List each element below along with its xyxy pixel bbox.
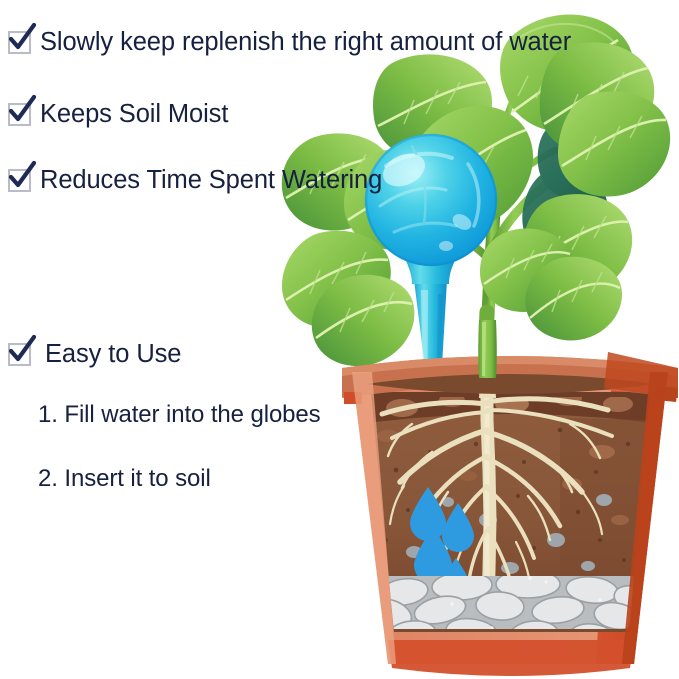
feature-row-4: Easy to Use bbox=[8, 342, 181, 368]
text-layer: Slowly keep replenish the right amount o… bbox=[0, 0, 679, 679]
feature-row-3: Reduces Time Spent Watering bbox=[8, 168, 382, 194]
checkbox-checked-icon bbox=[8, 31, 31, 54]
feature-row-1: Slowly keep replenish the right amount o… bbox=[8, 30, 571, 56]
step-label: 2. Insert it to soil bbox=[38, 465, 211, 492]
step-row-2: 2. Insert it to soil bbox=[38, 467, 211, 491]
feature-label: Slowly keep replenish the right amount o… bbox=[40, 30, 571, 56]
feature-label: Reduces Time Spent Watering bbox=[40, 168, 382, 194]
checkbox-checked-icon bbox=[8, 103, 31, 126]
step-row-1: 1. Fill water into the globes bbox=[38, 403, 321, 427]
checkbox-checked-icon bbox=[8, 343, 31, 366]
infographic-canvas: Slowly keep replenish the right amount o… bbox=[0, 0, 679, 679]
feature-row-2: Keeps Soil Moist bbox=[8, 102, 228, 128]
feature-label: Easy to Use bbox=[45, 342, 181, 368]
feature-label: Keeps Soil Moist bbox=[40, 102, 228, 128]
checkbox-checked-icon bbox=[8, 169, 31, 192]
step-label: 1. Fill water into the globes bbox=[38, 401, 321, 428]
